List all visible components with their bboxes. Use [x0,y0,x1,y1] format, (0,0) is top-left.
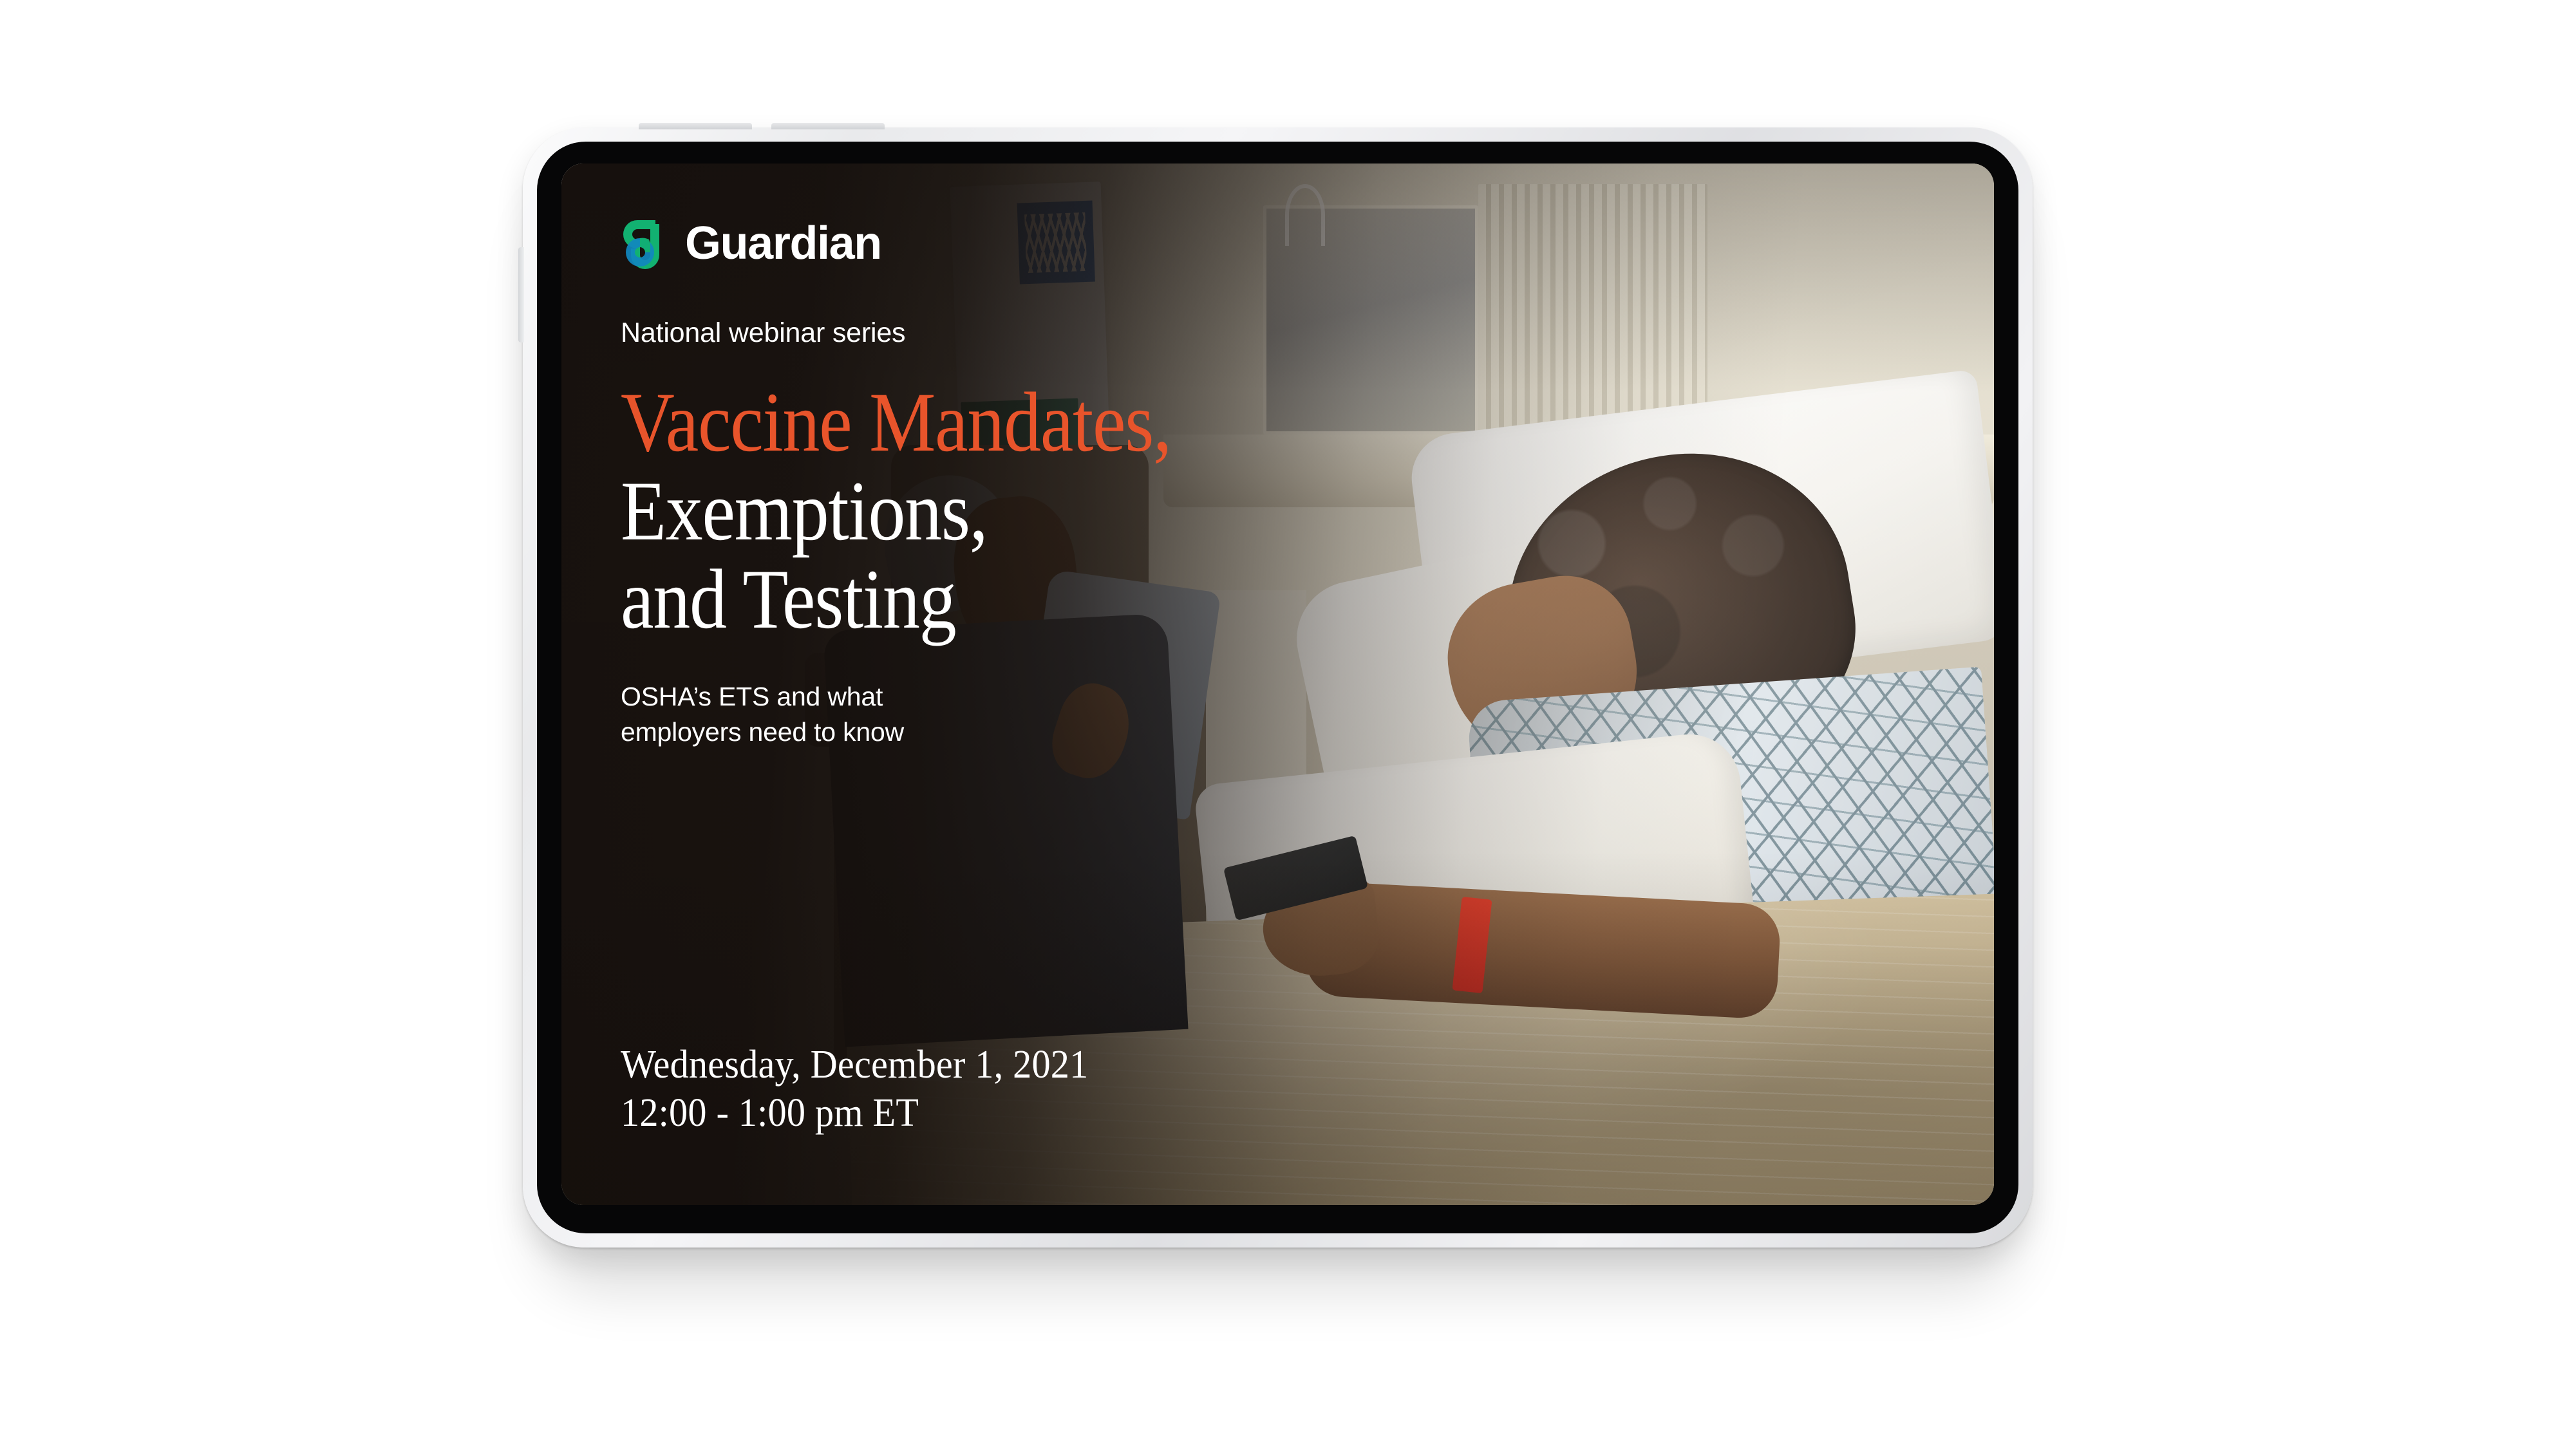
tablet-screen[interactable]: Guardian National webinar series Vaccine… [561,164,1994,1205]
subheadline-line-1: OSHA’s ETS and what [621,679,1586,715]
event-datetime: Wednesday, December 1, 2021 12:00 - 1:00… [621,1041,1528,1138]
subheadline: OSHA’s ETS and what employers need to kn… [621,679,1586,750]
headline-line-3: and Testing [621,555,1471,643]
power-button[interactable] [518,247,524,342]
tablet-bezel: Guardian National webinar series Vaccine… [537,142,2018,1233]
volume-down-button[interactable] [771,123,885,129]
headline-line-2: Exemptions, [621,467,1471,555]
tablet-device: Guardian National webinar series Vaccine… [523,127,2033,1248]
headline: Vaccine Mandates, Exemptions, and Testin… [621,378,1471,643]
headline-line-1: Vaccine Mandates, [621,378,1471,466]
event-date: Wednesday, December 1, 2021 [621,1041,1528,1090]
guardian-interlocking-g-icon [621,218,670,269]
slide-content: Guardian National webinar series Vaccine… [621,164,1586,1205]
volume-up-button[interactable] [639,123,752,129]
brand-lockup[interactable]: Guardian [621,218,1586,269]
event-time: 12:00 - 1:00 pm ET [621,1089,1528,1138]
screenshot-canvas: Guardian National webinar series Vaccine… [0,0,2576,1449]
content-spacer [621,750,1586,1041]
eyebrow-text: National webinar series [621,318,1586,348]
brand-wordmark: Guardian [685,220,881,266]
subheadline-line-2: employers need to know [621,715,1586,750]
